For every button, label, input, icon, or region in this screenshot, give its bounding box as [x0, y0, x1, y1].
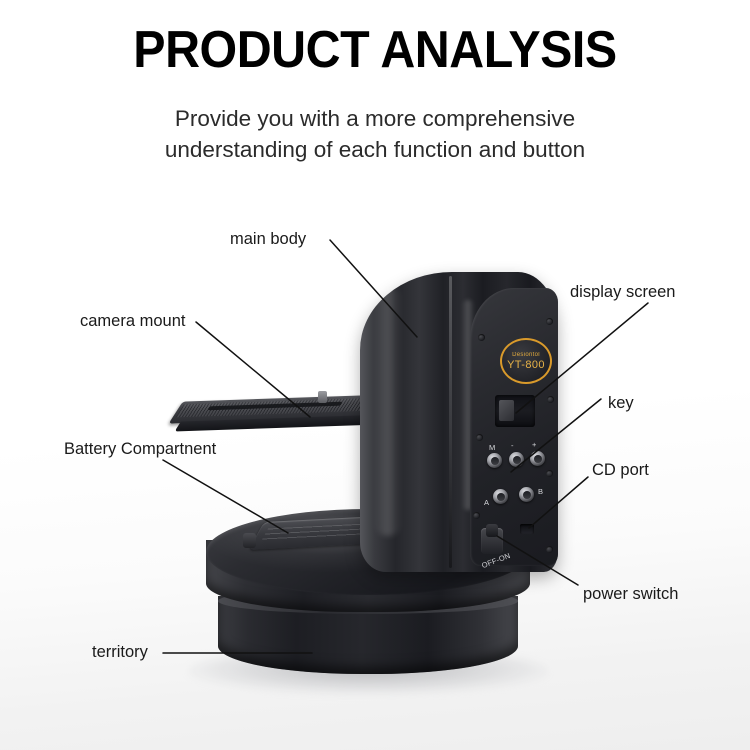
button-label-plus: + [532, 440, 537, 449]
button-b[interactable] [519, 487, 534, 502]
badge-brand-text: Desiontol [512, 352, 540, 358]
panel-screw-3 [547, 396, 554, 403]
callout-label-cd-port: CD port [592, 461, 649, 480]
button-label-minus: - [511, 441, 514, 450]
callout-label-power-switch: power switch [583, 585, 678, 604]
button-minus-cap [513, 456, 521, 464]
button-m[interactable] [487, 453, 502, 468]
button-b-cap [523, 491, 531, 499]
cd-port-slot[interactable] [520, 524, 534, 534]
display-screen-lcd[interactable] [495, 395, 535, 427]
control-panel [470, 288, 558, 566]
panel-screw-6 [473, 512, 480, 519]
power-switch-nub[interactable] [486, 524, 498, 537]
tower-highlight-left [374, 286, 402, 536]
panel-screw-5 [546, 470, 553, 477]
button-m-cap [491, 457, 499, 465]
deck-nub [243, 533, 256, 548]
button-a[interactable] [493, 489, 508, 504]
camera-mount-screw [318, 391, 327, 403]
panel-screw-1 [546, 318, 553, 325]
badge-model-text: YT-800 [507, 360, 545, 371]
callout-label-camera-mount: camera mount [80, 312, 185, 331]
button-minus[interactable] [509, 452, 524, 467]
infographic-page: PRODUCT ANALYSIS Provide you with a more… [0, 0, 750, 750]
button-label-a: A [484, 498, 489, 507]
display-screen-glass [499, 400, 514, 421]
callout-label-display-screen: display screen [570, 283, 675, 302]
button-a-cap [497, 493, 505, 501]
callout-label-main-body: main body [230, 230, 306, 249]
button-plus[interactable] [530, 451, 545, 466]
button-plus-cap [534, 455, 542, 463]
callout-label-battery-compartment: Battery Compartnent [64, 440, 216, 459]
panel-screw-2 [478, 334, 485, 341]
button-label-m: M [489, 443, 495, 452]
panel-screw-4 [476, 434, 483, 441]
panel-screw-7 [546, 546, 553, 553]
product-illustration: Desiontol YT-800 M - + A B OFF-ON [0, 0, 750, 750]
callout-label-key: key [608, 394, 634, 413]
brand-badge: Desiontol YT-800 [500, 338, 552, 384]
callout-label-territory: territory [92, 643, 148, 662]
button-label-b: B [538, 487, 543, 496]
tower-seam [449, 276, 452, 568]
